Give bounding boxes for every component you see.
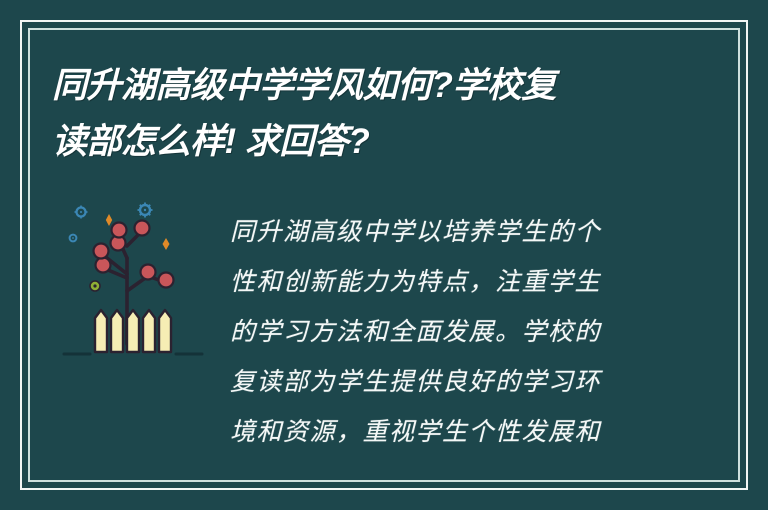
body-line-2: 性和创新能力为特点，注重学生 [230,258,650,308]
title-line-1: 同升湖高级中学学风如何?学校复 [52,58,672,114]
title-line-2: 读部怎么样! 求回答? [52,114,672,170]
fence [95,310,171,352]
body-line-1: 同升湖高级中学以培养学生的个 [230,208,650,258]
tree-berries [94,221,174,288]
body-line-3: 的学习方法和全面发展。学校的 [230,308,650,358]
body-line-5: 境和资源，重视学生个性发展和 [230,408,650,458]
body-line-4: 复读部为学生提供良好的学习环 [230,358,650,408]
tree-with-fence-illustration [62,196,212,366]
page-title: 同升湖高级中学学风如何?学校复 读部怎么样! 求回答? [52,58,672,170]
article-body: 同升湖高级中学以培养学生的个 性和创新能力为特点，注重学生 的学习方法和全面发展… [230,208,650,458]
article-card: 同升湖高级中学学风如何?学校复 读部怎么样! 求回答? [0,0,768,510]
